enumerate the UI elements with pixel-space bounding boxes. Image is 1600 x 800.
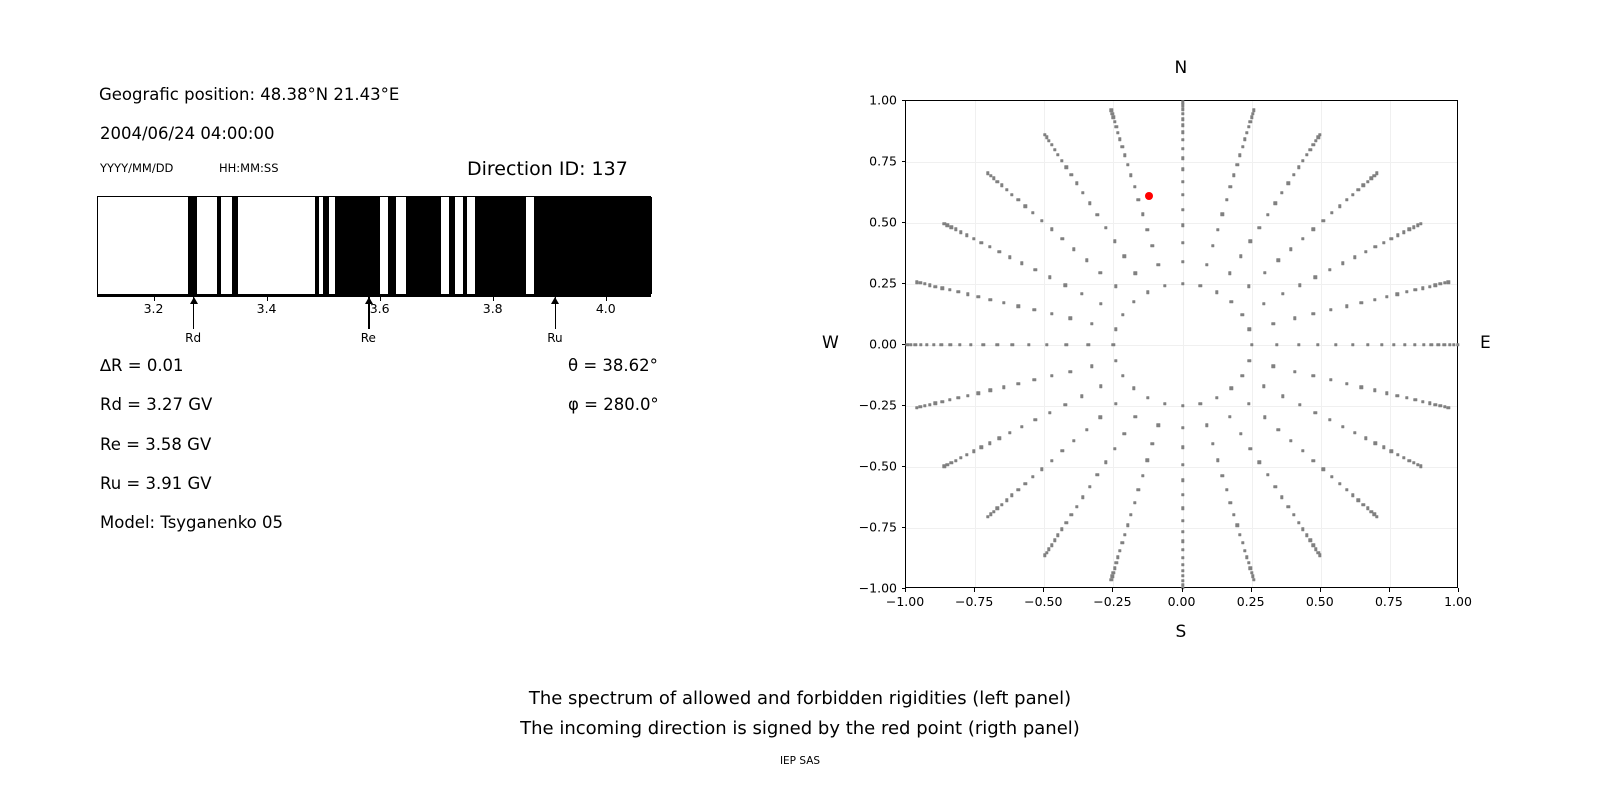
direction-dot xyxy=(1249,566,1252,569)
direction-dot xyxy=(1215,396,1218,399)
direction-dot xyxy=(1390,450,1393,453)
direction-dot xyxy=(1017,488,1020,491)
direction-dot xyxy=(1137,488,1140,491)
y-tick-label: −1.00 xyxy=(843,581,897,596)
direction-dot xyxy=(1266,473,1269,476)
direction-dot xyxy=(1133,501,1136,504)
direction-dot xyxy=(1181,548,1184,551)
parameter-line: Re = 3.58 GV xyxy=(100,435,211,454)
compass-west-label: W xyxy=(822,333,839,353)
direction-dot xyxy=(982,343,985,346)
direction-dot xyxy=(1118,549,1121,552)
direction-dot xyxy=(986,515,989,518)
x-tick-mark xyxy=(1182,588,1183,592)
direction-map-panel: −1.00−0.75−0.50−0.250.000.250.500.751.00… xyxy=(800,0,1600,660)
direction-dot xyxy=(1297,166,1300,169)
direction-dot xyxy=(958,343,961,346)
direction-dot xyxy=(914,343,917,346)
direction-dot xyxy=(1010,193,1013,196)
direction-dot xyxy=(940,400,943,403)
direction-dot xyxy=(949,343,952,346)
direction-dot xyxy=(1072,248,1075,251)
direction-dot xyxy=(1408,228,1411,231)
gridline-vertical xyxy=(1321,101,1322,587)
direction-dot xyxy=(1298,284,1301,287)
direction-dot xyxy=(1181,147,1184,150)
direction-dot xyxy=(1293,317,1296,320)
gridline-horizontal xyxy=(906,345,1457,346)
direction-dot xyxy=(1338,204,1341,207)
direction-dot xyxy=(1262,302,1265,305)
direction-dot xyxy=(959,230,962,233)
direction-dot xyxy=(1312,459,1315,462)
direction-dot xyxy=(934,402,937,405)
direction-dot xyxy=(1050,228,1053,231)
direction-dot xyxy=(1351,494,1354,497)
direction-dot xyxy=(976,392,979,395)
direction-dot xyxy=(1241,541,1244,544)
direction-dot xyxy=(1020,425,1023,428)
direction-dot xyxy=(956,290,959,293)
gridline-vertical xyxy=(1183,101,1184,587)
direction-dot xyxy=(1280,495,1283,498)
direction-dot xyxy=(1181,131,1184,134)
direction-scatter-plot xyxy=(905,100,1458,588)
direction-dot xyxy=(1317,136,1320,139)
direction-dot xyxy=(1181,540,1184,543)
direction-dot xyxy=(1056,153,1059,156)
direction-dot xyxy=(1056,533,1059,536)
direction-dot xyxy=(1081,495,1084,498)
direction-dot xyxy=(940,343,943,346)
direction-dot xyxy=(1181,569,1184,572)
direction-dot xyxy=(996,343,999,346)
direction-dot xyxy=(1448,343,1451,346)
caption-line-1: The spectrum of allowed and forbidden ri… xyxy=(0,688,1600,709)
direction-dot xyxy=(1104,461,1107,464)
direction-dot xyxy=(1428,402,1431,405)
direction-dot xyxy=(1437,343,1440,346)
direction-dot xyxy=(1221,212,1224,215)
datetime-label: 2004/06/24 04:00:00 xyxy=(100,124,274,143)
direction-dot xyxy=(1181,224,1184,227)
direction-dot xyxy=(1297,521,1300,524)
direction-dot xyxy=(980,241,983,244)
direction-dot xyxy=(1181,108,1184,111)
direction-dot xyxy=(1360,301,1363,304)
direction-dot xyxy=(943,222,946,225)
direction-dot xyxy=(1065,166,1068,169)
direction-dot xyxy=(1249,120,1252,123)
direction-dot xyxy=(1312,143,1315,146)
direction-dot xyxy=(956,396,959,399)
direction-dot xyxy=(1322,219,1325,222)
direction-dot xyxy=(1390,237,1393,240)
angle-parameter-line: θ = 38.62° xyxy=(568,356,658,375)
direction-dot xyxy=(1211,442,1214,445)
marker-label: Re xyxy=(361,331,376,345)
direction-dot xyxy=(1456,343,1459,346)
direction-dot xyxy=(1364,437,1367,440)
direction-dot xyxy=(1330,475,1333,478)
y-tick-mark xyxy=(902,283,906,284)
direction-dot xyxy=(1181,124,1184,127)
parameter-line: Model: Tsyganenko 05 xyxy=(100,513,283,532)
direction-dot xyxy=(1408,459,1411,462)
compass-east-label: E xyxy=(1480,333,1491,353)
direction-dot xyxy=(1309,148,1312,151)
direction-dot xyxy=(1114,328,1117,331)
direction-dot xyxy=(1272,322,1275,325)
direction-dot xyxy=(1087,343,1090,346)
date-format-hint: YYYY/MM/DD xyxy=(100,161,173,175)
direction-dot xyxy=(1181,104,1184,107)
direction-dot xyxy=(1297,343,1300,346)
direction-dot xyxy=(1211,244,1214,247)
direction-dot xyxy=(1328,418,1331,421)
direction-dot xyxy=(1114,359,1117,362)
direction-dot xyxy=(998,437,1001,440)
direction-dot xyxy=(1033,308,1036,311)
y-tick-label: −0.75 xyxy=(843,520,897,535)
direction-dot xyxy=(1115,561,1118,564)
direction-dot xyxy=(1132,386,1135,389)
direction-dot xyxy=(1050,459,1053,462)
direction-dot xyxy=(1287,182,1290,185)
direction-dot xyxy=(1247,402,1250,405)
direction-dot xyxy=(1181,208,1184,211)
direction-dot xyxy=(1017,382,1020,385)
direction-dot xyxy=(1181,241,1184,244)
direction-dot xyxy=(1280,191,1283,194)
direction-dot xyxy=(1374,245,1377,248)
direction-dot xyxy=(1181,282,1184,285)
rigidity-tick-label: 3.2 xyxy=(144,301,164,316)
direction-dot xyxy=(1382,446,1385,449)
direction-dot xyxy=(1043,133,1046,136)
direction-dot xyxy=(1370,177,1373,180)
direction-dot xyxy=(1439,282,1442,285)
direction-dot xyxy=(1360,386,1363,389)
x-tick-label: 0.50 xyxy=(1306,594,1334,609)
x-tick-mark xyxy=(974,588,975,592)
direction-dot xyxy=(1060,159,1063,162)
direction-dot xyxy=(1181,168,1184,171)
direction-dot xyxy=(1229,185,1232,188)
direction-dot xyxy=(1221,474,1224,477)
direction-dot xyxy=(1112,343,1115,346)
direction-dot xyxy=(1085,259,1088,262)
direction-dot xyxy=(1362,184,1365,187)
direction-dot xyxy=(1104,226,1107,229)
direction-dot xyxy=(1309,539,1312,542)
y-tick-label: −0.50 xyxy=(843,459,897,474)
direction-dot xyxy=(1129,513,1132,516)
direction-dot xyxy=(1385,295,1388,298)
direction-dot xyxy=(1422,343,1425,346)
direction-dot xyxy=(1238,154,1241,157)
direction-dot xyxy=(1396,453,1399,456)
direction-dot xyxy=(1248,359,1251,362)
x-tick-label: −1.00 xyxy=(886,594,924,609)
direction-dot xyxy=(1040,219,1043,222)
direction-dot xyxy=(1123,255,1126,258)
direction-dot xyxy=(1247,285,1250,288)
direction-dot xyxy=(988,245,991,248)
direction-dot xyxy=(1374,442,1377,445)
direction-dot xyxy=(1146,290,1149,293)
direction-dot xyxy=(1045,136,1048,139)
y-tick-mark xyxy=(902,588,906,589)
direction-dot xyxy=(1366,180,1369,183)
y-tick-label: 0.75 xyxy=(843,154,897,169)
direction-dot xyxy=(959,456,962,459)
forbidden-band xyxy=(388,197,396,294)
direction-dot xyxy=(1075,182,1078,185)
direction-dot xyxy=(1181,118,1184,121)
direction-dot xyxy=(1031,475,1034,478)
forbidden-band xyxy=(335,197,381,294)
direction-dot xyxy=(1232,174,1235,177)
direction-dot xyxy=(1110,109,1113,112)
direction-dot xyxy=(966,292,969,295)
direction-dot xyxy=(1163,284,1166,287)
direction-dot xyxy=(1156,263,1159,266)
direction-dot xyxy=(1141,212,1144,215)
forbidden-band xyxy=(217,197,221,294)
direction-dot xyxy=(1330,211,1333,214)
direction-dot xyxy=(1181,530,1184,533)
gridline-horizontal xyxy=(906,528,1457,529)
x-tick-mark xyxy=(905,588,906,592)
direction-dot xyxy=(1072,439,1075,442)
direction-dot xyxy=(989,513,992,516)
direction-dot xyxy=(1289,439,1292,442)
direction-dot xyxy=(946,223,949,226)
direction-dot xyxy=(1396,394,1399,397)
direction-dot xyxy=(1228,271,1231,274)
direction-dot xyxy=(1111,112,1114,115)
direction-dot xyxy=(1328,268,1331,271)
direction-dot xyxy=(1292,513,1295,516)
direction-dot xyxy=(1069,317,1072,320)
direction-dot xyxy=(1312,312,1315,315)
direction-dot xyxy=(1000,184,1003,187)
direction-dot xyxy=(1110,578,1113,581)
compass-south-label: S xyxy=(1176,622,1187,642)
direction-dot xyxy=(1116,131,1119,134)
direction-dot xyxy=(1338,482,1341,485)
direction-dot xyxy=(1121,541,1124,544)
direction-dot xyxy=(1181,180,1184,183)
direction-dot xyxy=(1023,204,1026,207)
direction-dot xyxy=(1414,398,1417,401)
direction-dot xyxy=(1301,159,1304,162)
x-tick-label: −0.75 xyxy=(955,594,993,609)
direction-dot xyxy=(1050,374,1053,377)
direction-dot xyxy=(1301,237,1304,240)
direction-dot xyxy=(1357,499,1360,502)
y-tick-mark xyxy=(902,405,906,406)
direction-dot xyxy=(1123,154,1126,157)
x-tick-label: 0.00 xyxy=(1168,594,1196,609)
direction-dot xyxy=(1181,157,1184,160)
direction-dot xyxy=(1146,459,1149,462)
direction-dot xyxy=(1232,513,1235,516)
direction-dot xyxy=(1281,292,1284,295)
y-tick-mark xyxy=(902,344,906,345)
y-tick-mark xyxy=(902,222,906,223)
x-tick-mark xyxy=(1251,588,1252,592)
selected-direction-marker xyxy=(1145,192,1153,200)
forbidden-band xyxy=(449,197,455,294)
direction-dot xyxy=(949,225,952,228)
y-tick-label: −0.25 xyxy=(843,398,897,413)
rigidity-spectrum-chart xyxy=(97,196,651,295)
direction-dot xyxy=(1146,396,1149,399)
direction-dot xyxy=(934,285,937,288)
direction-dot xyxy=(1134,271,1137,274)
x-tick-mark xyxy=(1043,588,1044,592)
direction-dot xyxy=(1249,447,1252,450)
direction-dot xyxy=(1205,423,1208,426)
direction-dot xyxy=(1353,255,1356,258)
direction-dot xyxy=(1334,343,1337,346)
direction-dot xyxy=(1301,528,1304,531)
direction-dot xyxy=(1329,378,1332,381)
direction-dot xyxy=(1380,343,1383,346)
direction-dot xyxy=(949,461,952,464)
direction-dot xyxy=(1005,499,1008,502)
direction-dot xyxy=(1023,482,1026,485)
direction-dot xyxy=(928,283,931,286)
direction-dot xyxy=(1229,501,1232,504)
direction-dot xyxy=(1258,226,1261,229)
direction-dot xyxy=(1345,198,1348,201)
direction-dot xyxy=(948,288,951,291)
direction-dot xyxy=(1382,241,1385,244)
direction-dot xyxy=(1266,213,1269,216)
direction-dot xyxy=(1251,112,1254,115)
direction-dot xyxy=(966,394,969,397)
direction-dot xyxy=(1419,465,1422,468)
direction-dot xyxy=(1241,313,1244,316)
direction-dot xyxy=(1428,285,1431,288)
y-tick-label: 0.25 xyxy=(843,276,897,291)
direction-dot xyxy=(1080,292,1083,295)
direction-dot xyxy=(1351,343,1354,346)
direction-dot xyxy=(1443,343,1446,346)
direction-dot xyxy=(1199,284,1202,287)
direction-dot xyxy=(1243,138,1246,141)
forbidden-band xyxy=(232,197,238,294)
forbidden-band xyxy=(534,197,652,294)
direction-dot xyxy=(1373,298,1376,301)
geographic-position-label: Geografic position: 48.38°N 21.43°E xyxy=(99,85,399,104)
direction-dot xyxy=(1134,415,1137,418)
direction-id-label: Direction ID: 137 xyxy=(467,158,628,180)
direction-dot xyxy=(1181,463,1184,466)
x-tick-mark xyxy=(1458,588,1459,592)
parameter-line: ∆R = 0.01 xyxy=(100,356,184,375)
direction-dot xyxy=(1000,503,1003,506)
direction-dot xyxy=(1156,423,1159,426)
direction-dot xyxy=(1225,198,1228,201)
direction-dot xyxy=(1277,428,1280,431)
time-format-hint: HH:MM:SS xyxy=(219,161,279,175)
direction-dot xyxy=(1205,263,1208,266)
direction-dot xyxy=(1238,533,1241,536)
direction-dot xyxy=(1275,343,1278,346)
direction-dot xyxy=(1126,163,1129,166)
direction-dot xyxy=(1447,280,1450,283)
direction-dot xyxy=(1366,343,1369,346)
direction-dot xyxy=(948,398,951,401)
gridline-vertical xyxy=(975,101,976,587)
direction-dot xyxy=(1121,374,1124,377)
rigidity-tick-label: 4.0 xyxy=(596,301,616,316)
direction-dot xyxy=(1301,449,1304,452)
direction-dot xyxy=(1002,386,1005,389)
direction-dot xyxy=(1118,138,1121,141)
marker-arrowhead xyxy=(551,297,559,304)
direction-dot xyxy=(1063,284,1066,287)
angle-parameter-line: φ = 280.0° xyxy=(568,395,659,414)
parameter-line: Ru = 3.91 GV xyxy=(100,474,212,493)
direction-dot xyxy=(1027,343,1030,346)
direction-dot xyxy=(1298,403,1301,406)
direction-dot xyxy=(1033,378,1036,381)
direction-dot xyxy=(1163,402,1166,405)
direction-dot xyxy=(1434,283,1437,286)
direction-dot xyxy=(1225,488,1228,491)
y-tick-mark xyxy=(902,466,906,467)
direction-dot xyxy=(1070,173,1073,176)
direction-dot xyxy=(1113,447,1116,450)
direction-dot xyxy=(976,295,979,298)
direction-dot xyxy=(1031,211,1034,214)
direction-dot xyxy=(923,282,926,285)
direction-dot xyxy=(1414,288,1417,291)
direction-dot xyxy=(1123,533,1126,536)
direction-dot xyxy=(1430,343,1433,346)
direction-dot xyxy=(1241,145,1244,148)
direction-dot xyxy=(1129,174,1132,177)
direction-dot xyxy=(1099,385,1102,388)
direction-dot xyxy=(1318,133,1321,136)
direction-dot xyxy=(1314,411,1317,414)
marker-arrowhead xyxy=(365,297,373,304)
direction-dot xyxy=(1396,233,1399,236)
direction-dot xyxy=(943,465,946,468)
gridline-horizontal xyxy=(906,467,1457,468)
direction-dot xyxy=(919,343,922,346)
direction-dot xyxy=(1008,255,1011,258)
direction-dot xyxy=(1181,519,1184,522)
direction-dot xyxy=(915,406,918,409)
direction-dot xyxy=(1069,370,1072,373)
direction-dot xyxy=(1121,145,1124,148)
direction-dot xyxy=(988,442,991,445)
direction-dot xyxy=(1099,416,1102,419)
direction-dot xyxy=(1373,389,1376,392)
direction-dot xyxy=(1011,343,1014,346)
direction-dot xyxy=(1053,539,1056,542)
direction-dot xyxy=(1181,426,1184,429)
direction-dot xyxy=(1034,418,1037,421)
direction-dot xyxy=(1088,485,1091,488)
direction-dot xyxy=(1405,396,1408,399)
